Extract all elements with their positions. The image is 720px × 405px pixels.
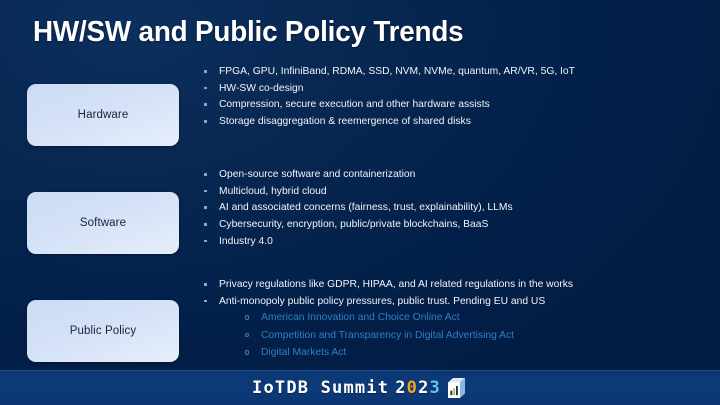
bullet-text: HW-SW co-design bbox=[219, 83, 304, 94]
bullet-item: Anti-monopoly public policy pressures, p… bbox=[200, 294, 700, 309]
bullet-item: Cybersecurity, encryption, public/privat… bbox=[200, 217, 700, 232]
bullet-group-software: Open-source software and containerizatio… bbox=[200, 167, 700, 251]
iotdb-cube-icon bbox=[447, 377, 468, 399]
sub-bullet-list: American Innovation and Choice Online Ac… bbox=[200, 310, 700, 360]
bullet-marker-icon bbox=[204, 190, 207, 193]
summit-logo: IoTDB Summit 2023 bbox=[252, 377, 468, 399]
bullet-text: Compression, secure execution and other … bbox=[219, 99, 490, 110]
summit-brand-text: IoTDB Summit bbox=[252, 378, 389, 398]
category-label: Software bbox=[80, 217, 126, 229]
bullet-text: Anti-monopoly public policy pressures, p… bbox=[219, 296, 545, 307]
sub-bullet-item: Digital Markets Act bbox=[243, 345, 700, 360]
bullet-text: Cybersecurity, encryption, public/privat… bbox=[219, 219, 488, 230]
bullet-marker-icon bbox=[204, 283, 207, 286]
bullet-text: FPGA, GPU, InfiniBand, RDMA, SSD, NVM, N… bbox=[219, 66, 575, 77]
year-digit: 2 bbox=[418, 378, 429, 398]
bullet-item: AI and associated concerns (fairness, tr… bbox=[200, 200, 700, 215]
bullet-item: Compression, secure execution and other … bbox=[200, 97, 700, 112]
bullet-item: Multicloud, hybrid cloud bbox=[200, 184, 700, 199]
category-box-public-policy: Public Policy bbox=[27, 300, 179, 362]
category-label: Hardware bbox=[78, 109, 129, 121]
circle-marker-icon bbox=[245, 315, 249, 319]
footer-bar: IoTDB Summit 2023 bbox=[0, 370, 720, 405]
slide-canvas: HW/SW and Public Policy Trends Hardware … bbox=[0, 0, 720, 405]
category-label: Public Policy bbox=[70, 325, 137, 337]
sub-bullet-text: Digital Markets Act bbox=[261, 347, 346, 358]
bullet-list: Open-source software and containerizatio… bbox=[200, 167, 700, 249]
year-digit: 0 bbox=[407, 378, 418, 398]
sub-bullet-item: Competition and Transparency in Digital … bbox=[243, 328, 700, 343]
bullet-marker-icon bbox=[204, 300, 207, 303]
bullet-marker-icon bbox=[204, 87, 207, 90]
bullet-item: HW-SW co-design bbox=[200, 81, 700, 96]
bullet-list: Privacy regulations like GDPR, HIPAA, an… bbox=[200, 277, 700, 309]
circle-marker-icon bbox=[245, 333, 249, 337]
sub-bullet-text: American Innovation and Choice Online Ac… bbox=[261, 312, 460, 323]
bullet-marker-icon bbox=[204, 70, 207, 73]
bullet-text: Industry 4.0 bbox=[219, 236, 273, 247]
bullet-list: FPGA, GPU, InfiniBand, RDMA, SSD, NVM, N… bbox=[200, 64, 700, 129]
year-digit: 2 bbox=[395, 378, 406, 398]
bullet-marker-icon bbox=[204, 240, 207, 243]
bullet-group-hardware: FPGA, GPU, InfiniBand, RDMA, SSD, NVM, N… bbox=[200, 64, 700, 131]
bullet-text: Open-source software and containerizatio… bbox=[219, 169, 415, 180]
bullet-marker-icon bbox=[204, 206, 207, 209]
bullet-item: Storage disaggregation & reemergence of … bbox=[200, 114, 700, 129]
sub-bullet-text: Competition and Transparency in Digital … bbox=[261, 330, 514, 341]
bullet-text: Storage disaggregation & reemergence of … bbox=[219, 116, 471, 127]
summit-year: 2023 bbox=[395, 378, 441, 398]
category-box-software: Software bbox=[27, 192, 179, 254]
year-digit: 3 bbox=[430, 378, 441, 398]
bullet-item: FPGA, GPU, InfiniBand, RDMA, SSD, NVM, N… bbox=[200, 64, 700, 79]
bullet-marker-icon bbox=[204, 173, 207, 176]
bullet-item: Industry 4.0 bbox=[200, 234, 700, 249]
bullet-item: Open-source software and containerizatio… bbox=[200, 167, 700, 182]
bullet-text: AI and associated concerns (fairness, tr… bbox=[219, 202, 513, 213]
bullet-marker-icon bbox=[204, 223, 207, 226]
bullet-text: Privacy regulations like GDPR, HIPAA, an… bbox=[219, 279, 573, 290]
bullet-marker-icon bbox=[204, 120, 207, 123]
category-box-hardware: Hardware bbox=[27, 84, 179, 146]
bullet-item: Privacy regulations like GDPR, HIPAA, an… bbox=[200, 277, 700, 292]
page-title: HW/SW and Public Policy Trends bbox=[33, 13, 463, 51]
bullet-text: Multicloud, hybrid cloud bbox=[219, 186, 327, 197]
bullet-group-public-policy: Privacy regulations like GDPR, HIPAA, an… bbox=[200, 277, 700, 363]
sub-bullet-item: American Innovation and Choice Online Ac… bbox=[243, 310, 700, 325]
circle-marker-icon bbox=[245, 350, 249, 354]
bullet-marker-icon bbox=[204, 103, 207, 106]
